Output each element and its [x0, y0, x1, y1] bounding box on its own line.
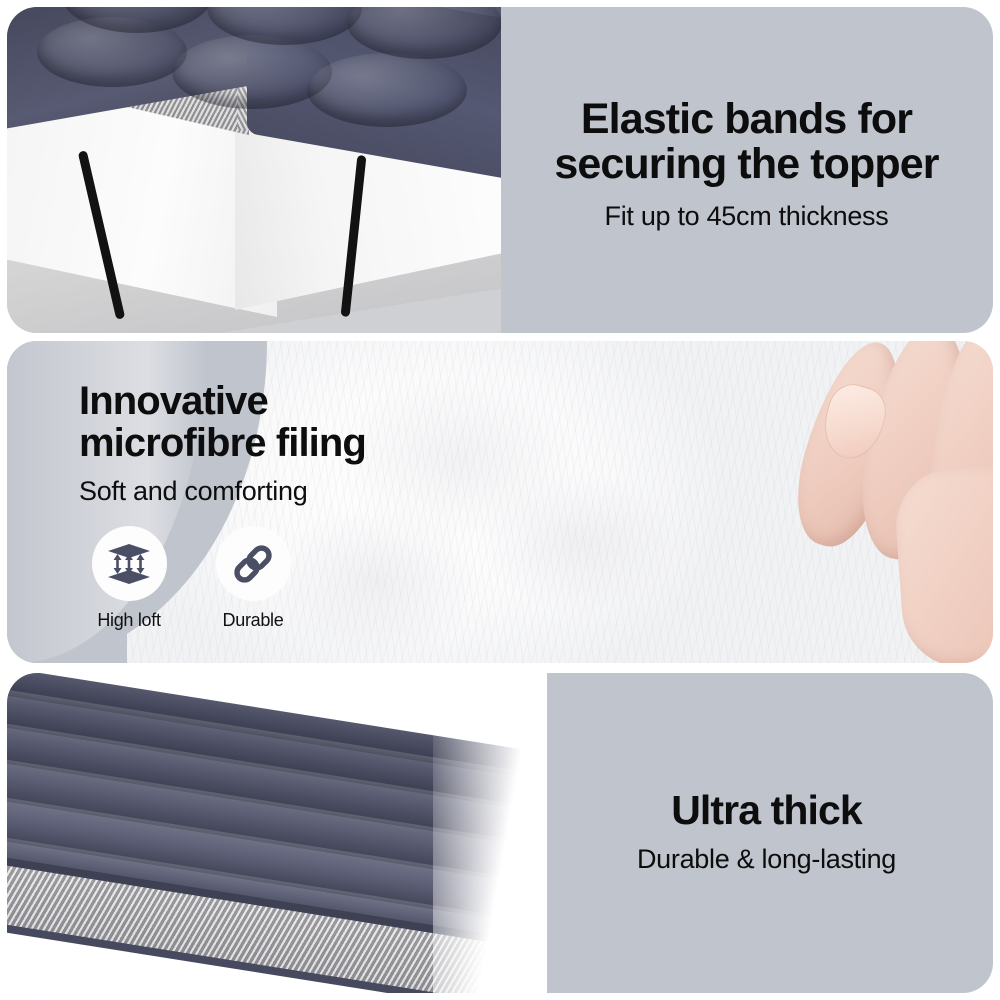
badge-circle: [216, 526, 291, 601]
panel-headline: Innovative microfibre filing: [79, 380, 366, 465]
feature-text-elastic-bands: Elastic bands for securing the topper Fi…: [500, 7, 993, 333]
headline-line-2: microfibre filing: [79, 421, 366, 465]
feature-badge-high-loft: High loft: [79, 526, 179, 631]
feature-text-ultra-thick: Ultra thick Durable & long-lasting: [540, 733, 993, 933]
panel-subtitle: Fit up to 45cm thickness: [605, 200, 889, 234]
panel-subtitle: Durable & long-lasting: [637, 843, 896, 877]
feature-text-microfibre: Innovative microfibre filing Soft and co…: [79, 369, 479, 519]
feature-panel-elastic-bands: Elastic bands for securing the topper Fi…: [7, 7, 993, 333]
chain-link-icon: [229, 540, 277, 588]
panel-headline: Ultra thick: [671, 789, 862, 832]
headline-line-1: Ultra thick: [671, 787, 862, 833]
feature-badge-list: High loft Durable: [79, 526, 303, 631]
feature-panel-ultra-thick: Ultra thick Durable & long-lasting: [7, 673, 993, 993]
feature-panel-microfibre-filling: Innovative microfibre filing Soft and co…: [7, 341, 993, 663]
product-photo-ultra-thick: [7, 673, 547, 993]
panel-subtitle: Soft and comforting: [79, 475, 307, 509]
product-photo-elastic-bands: [7, 7, 501, 333]
panel-headline: Elastic bands for securing the topper: [554, 97, 938, 188]
high-loft-icon: [105, 540, 153, 588]
headline-line-1: Innovative: [79, 379, 268, 423]
feature-badge-durable: Durable: [203, 526, 303, 631]
photo-white-fade-right: [433, 673, 547, 993]
tuft-puff: [307, 53, 467, 127]
product-feature-board: Elastic bands for securing the topper Fi…: [0, 0, 1000, 1000]
hand-illustration: [751, 341, 993, 615]
badge-label: High loft: [97, 610, 160, 631]
badge-circle: [92, 526, 167, 601]
badge-label: Durable: [223, 610, 284, 631]
headline-line-2: securing the topper: [554, 140, 938, 188]
headline-line-1: Elastic bands for: [581, 95, 912, 143]
